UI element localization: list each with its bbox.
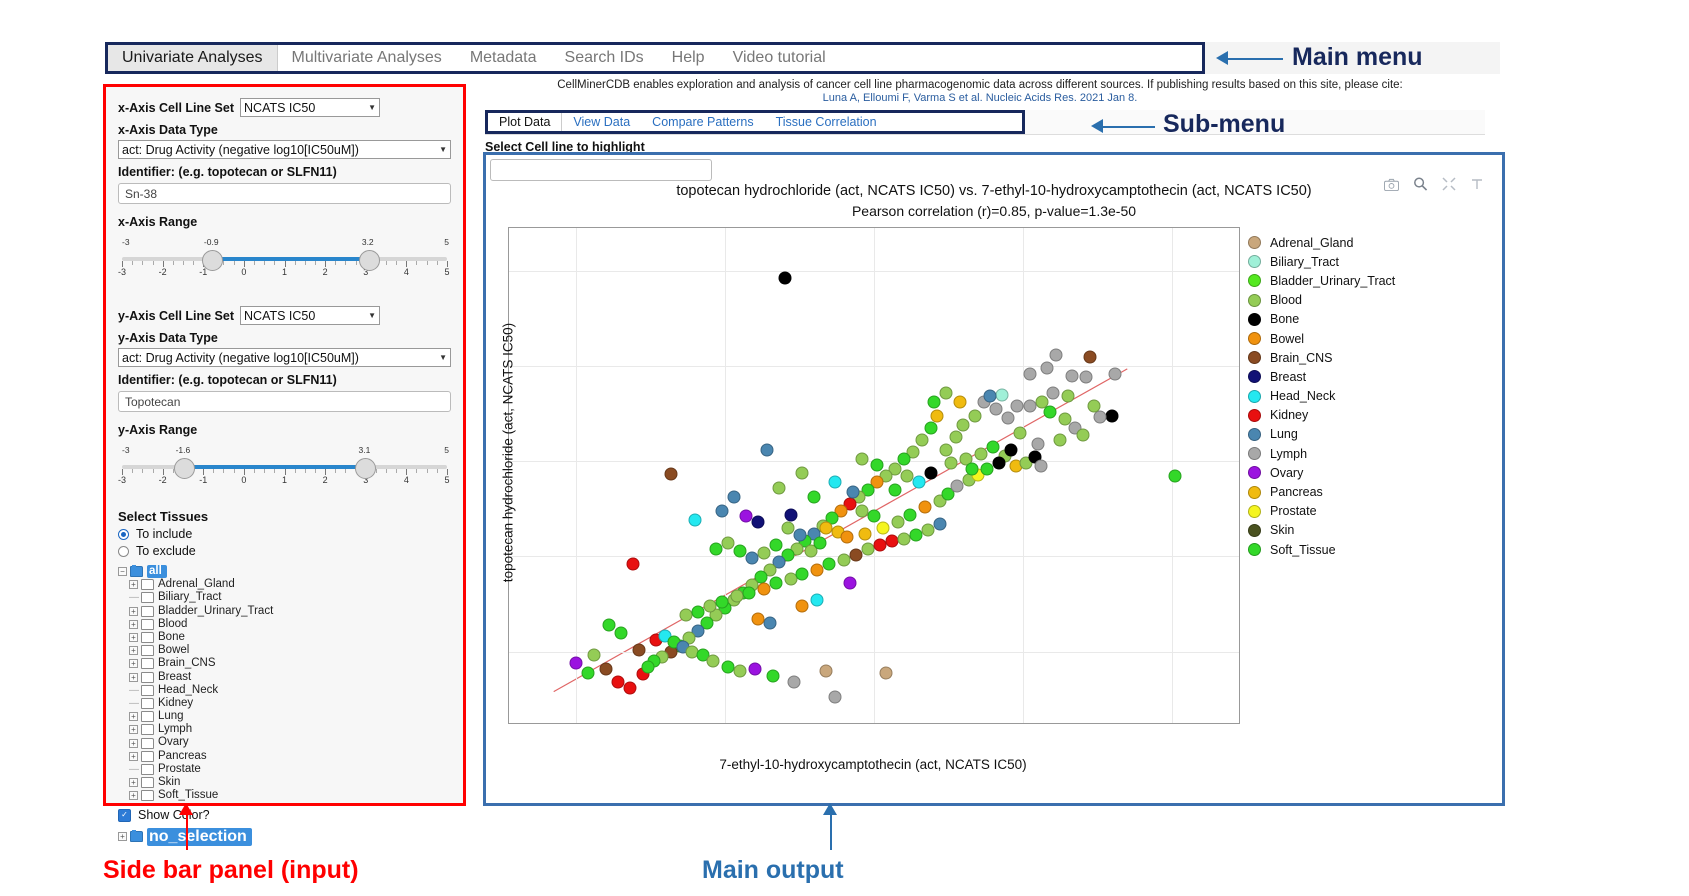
expand-icon[interactable]: + — [129, 752, 138, 761]
legend-label: Skin — [1270, 523, 1294, 537]
radio-to-exclude[interactable]: To exclude — [118, 544, 451, 558]
scatter-point[interactable] — [623, 681, 636, 694]
scatter-point[interactable] — [707, 655, 720, 668]
expand-icon[interactable]: + — [129, 580, 138, 589]
legend-label: Ovary — [1270, 466, 1303, 480]
scatter-point[interactable] — [814, 537, 827, 550]
legend-item-bladder_urinary_tract[interactable]: Bladder_Urinary_Tract — [1248, 271, 1483, 290]
tree-node-label: Ovary — [158, 736, 189, 749]
scatter-point[interactable] — [614, 626, 627, 639]
legend-label: Breast — [1270, 370, 1306, 384]
gridline-horizontal — [509, 366, 1239, 367]
tree-node-bowel[interactable]: +Bowel — [118, 644, 451, 657]
tree-node-label: Bladder_Urinary_Tract — [158, 605, 273, 618]
legend-color-swatch — [1248, 294, 1261, 307]
scatter-point[interactable] — [710, 542, 723, 555]
tree-node-adrenal_gland[interactable]: +Adrenal_Gland — [118, 578, 451, 591]
y-axis-cell-line-set-row: y-Axis Cell Line Set NCATS IC50 ▼ — [118, 306, 451, 325]
expand-icon[interactable]: + — [129, 739, 138, 748]
legend-color-swatch — [1248, 332, 1261, 345]
expand-icon[interactable]: + — [129, 607, 138, 616]
subtab-label: Plot Data — [499, 115, 550, 129]
scatter-point[interactable] — [772, 481, 785, 494]
legend-item-prostate[interactable]: Prostate — [1248, 502, 1483, 521]
scatter-point[interactable] — [722, 537, 735, 550]
tree-node-biliary_tract[interactable]: —Biliary_Tract — [118, 591, 451, 604]
scatter-point[interactable] — [748, 662, 761, 675]
scatter-point[interactable] — [829, 476, 842, 489]
scatter-point[interactable] — [1054, 434, 1067, 447]
tree-node-bladder_urinary_tract[interactable]: +Bladder_Urinary_Tract — [118, 605, 451, 618]
x-axis-identifier-input[interactable]: Sn-38 — [118, 183, 451, 204]
scatter-point[interactable] — [924, 466, 937, 479]
chevron-down-icon: ▼ — [439, 145, 447, 154]
legend-color-swatch — [1248, 313, 1261, 326]
tree-node-label: Bone — [158, 631, 185, 644]
scatter-point[interactable] — [766, 670, 779, 683]
legend-color-swatch — [1248, 390, 1261, 403]
scatter-point[interactable] — [632, 643, 645, 656]
tab-multivariate-analyses[interactable]: Multivariate Analyses — [278, 45, 456, 71]
scatter-point[interactable] — [769, 538, 782, 551]
x-axis-data-type-select[interactable]: act: Drug Activity (negative log10[IC50u… — [118, 140, 451, 159]
tree-node-label: Kidney — [158, 697, 193, 710]
chevron-down-icon: ▼ — [439, 353, 447, 362]
legend-label: Prostate — [1270, 504, 1317, 518]
folder-icon — [141, 738, 154, 749]
scatter-point[interactable] — [796, 599, 809, 612]
site-citation[interactable]: Luna A, Elloumi F, Varma S et al. Nuclei… — [470, 92, 1490, 104]
tree-node-pancreas[interactable]: +Pancreas — [118, 750, 451, 763]
legend-item-skin[interactable]: Skin — [1248, 521, 1483, 540]
folder-icon — [141, 619, 154, 630]
gridline-vertical — [725, 228, 726, 723]
radio-include-icon — [118, 529, 129, 540]
legend-item-breast[interactable]: Breast — [1248, 367, 1483, 386]
legend-color-swatch — [1248, 409, 1261, 422]
sidebar-panel: x-Axis Cell Line Set NCATS IC50 ▼ x-Axis… — [103, 84, 466, 806]
scatter-point[interactable] — [1011, 400, 1024, 413]
tree-node-label: Pancreas — [158, 750, 207, 763]
scatter-point[interactable] — [1079, 371, 1092, 384]
folder-icon — [141, 632, 154, 643]
scatter-point[interactable] — [1040, 361, 1053, 374]
scatter-point[interactable] — [1066, 369, 1079, 382]
folder-icon — [141, 698, 154, 709]
scatter-point[interactable] — [957, 419, 970, 432]
scatter-point[interactable] — [1106, 409, 1119, 422]
scatter-point[interactable] — [733, 664, 746, 677]
scatter-point[interactable] — [841, 531, 854, 544]
gridline-horizontal — [509, 556, 1239, 557]
scatter-point[interactable] — [876, 521, 889, 534]
scatter-point[interactable] — [1076, 428, 1089, 441]
main-output-panel: topotecan hydrochloride (act, NCATS IC50… — [483, 152, 1505, 806]
tab-univariate-analyses[interactable]: Univariate Analyses — [108, 45, 278, 71]
subtab-label: View Data — [573, 115, 630, 129]
tree-node-blood[interactable]: +Blood — [118, 618, 451, 631]
scatter-point[interactable] — [885, 535, 898, 548]
subtab-view-data[interactable]: View Data — [562, 113, 641, 131]
chevron-down-icon: ▼ — [368, 311, 376, 320]
tree-node-prostate[interactable]: —Prostate — [118, 763, 451, 776]
show-color-checkbox-row[interactable]: ✓ Show Color? — [118, 808, 451, 822]
expand-icon[interactable]: + — [129, 778, 138, 787]
scatter-point[interactable] — [996, 388, 1009, 401]
scatter-point[interactable] — [793, 529, 806, 542]
scatter-point[interactable] — [733, 544, 746, 557]
y-range-max-end: 5 — [444, 445, 449, 455]
select-tissues-section: Select Tissues To include To exclude — [118, 509, 451, 558]
y-axis-identifier-input[interactable]: Topotecan — [118, 391, 451, 412]
x-slider-numbers: -3 -2 -1 0 1 2 3 4 5 — [122, 267, 447, 279]
legend-label: Adrenal_Gland — [1270, 236, 1353, 250]
scatter-point[interactable] — [993, 457, 1006, 470]
x-range-max-end: 5 — [444, 237, 449, 247]
leaf-icon: — — [129, 684, 138, 697]
folder-icon — [141, 751, 154, 762]
submenu-callout-line — [1100, 126, 1155, 128]
scatter-point[interactable] — [927, 396, 940, 409]
tree-node-no-selection[interactable]: + no_selection — [118, 830, 451, 843]
scatter-point[interactable] — [1046, 386, 1059, 399]
tab-metadata[interactable]: Metadata — [456, 45, 551, 71]
x-axis-cell-line-set-select[interactable]: NCATS IC50 ▼ — [240, 98, 380, 117]
scatter-point[interactable] — [1109, 367, 1122, 380]
scatter-point[interactable] — [727, 491, 740, 504]
tree-node-label: Lung — [158, 710, 184, 723]
legend-label: Pancreas — [1270, 485, 1323, 499]
scatter-point[interactable] — [918, 500, 931, 513]
legend-color-swatch — [1248, 351, 1261, 364]
scatter-point[interactable] — [641, 660, 654, 673]
chart-title: topotecan hydrochloride (act, NCATS IC50… — [486, 183, 1502, 199]
tree-children: +Adrenal_Gland—Biliary_Tract+Bladder_Uri… — [118, 578, 451, 802]
y-range-high-value: 3.1 — [358, 445, 370, 455]
tab-label: Metadata — [470, 49, 537, 67]
scatter-point[interactable] — [903, 508, 916, 521]
expand-icon[interactable]: + — [129, 673, 138, 682]
y-axis-identifier-value: Topotecan — [125, 395, 180, 409]
x-tick-mark — [874, 723, 875, 724]
y-axis-range-slider[interactable]: -3 5 -3 -2 -1 0 1 2 3 4 5 -1.6 3.1 — [118, 441, 451, 491]
expand-icon[interactable]: + — [129, 791, 138, 800]
x-range-high-value: 3.2 — [362, 237, 374, 247]
scatter-point[interactable] — [966, 462, 979, 475]
tab-label: Search IDs — [565, 49, 644, 67]
scatter-point[interactable] — [1014, 426, 1027, 439]
scatter-point[interactable] — [811, 594, 824, 607]
folder-icon — [141, 724, 154, 735]
scatter-point[interactable] — [1005, 443, 1018, 456]
folder-icon — [141, 592, 154, 603]
scatter-point[interactable] — [751, 516, 764, 529]
scatter-point[interactable] — [784, 508, 797, 521]
tab-search-ids[interactable]: Search IDs — [551, 45, 658, 71]
gridline-vertical — [576, 228, 577, 723]
tab-label: Video tutorial — [733, 49, 826, 67]
tree-node-breast[interactable]: +Breast — [118, 671, 451, 684]
tree-node-head_neck[interactable]: —Head_Neck — [118, 684, 451, 697]
tab-label: Univariate Analyses — [122, 49, 263, 67]
legend-label: Soft_Tissue — [1270, 543, 1336, 557]
y-range-min-end: -3 — [122, 445, 130, 455]
scatter-point[interactable] — [930, 409, 943, 422]
radio-to-include[interactable]: To include — [118, 527, 451, 541]
scatter-point[interactable] — [599, 662, 612, 675]
scatter-point[interactable] — [1024, 367, 1037, 380]
plot-area[interactable]: -10123-10123 — [508, 227, 1240, 724]
main-menu[interactable]: Univariate Analyses Multivariate Analyse… — [105, 42, 1205, 74]
legend-label: Bone — [1270, 312, 1299, 326]
folder-icon — [141, 579, 154, 590]
y-axis-cell-line-set-value: NCATS IC50 — [244, 309, 315, 323]
gridline-horizontal — [509, 271, 1239, 272]
scatter-point[interactable] — [969, 409, 982, 422]
scatter-point[interactable] — [760, 443, 773, 456]
tab-help[interactable]: Help — [658, 45, 719, 71]
leaf-icon: — — [129, 763, 138, 776]
y-axis-cell-line-set-select[interactable]: NCATS IC50 ▼ — [240, 306, 380, 325]
legend-color-swatch — [1248, 447, 1261, 460]
scatter-point[interactable] — [1094, 411, 1107, 424]
folder-icon — [141, 764, 154, 775]
folder-icon — [141, 777, 154, 788]
scatter-point[interactable] — [1034, 459, 1047, 472]
scatter-point[interactable] — [626, 558, 639, 571]
legend-item-kidney[interactable]: Kidney — [1248, 406, 1483, 425]
highlight-cell-line-input[interactable] — [490, 159, 712, 181]
collapse-icon[interactable]: − — [118, 567, 127, 576]
expand-icon[interactable]: + — [129, 725, 138, 734]
scatter-point[interactable] — [949, 431, 962, 444]
y-axis-data-type-label: y-Axis Data Type — [118, 331, 451, 345]
scatter-point[interactable] — [665, 467, 678, 480]
scatter-point[interactable] — [990, 402, 1003, 415]
legend-label: Blood — [1270, 293, 1302, 307]
subtab-compare-patterns[interactable]: Compare Patterns — [641, 113, 764, 131]
scatter-point[interactable] — [939, 443, 952, 456]
expand-icon[interactable]: + — [129, 620, 138, 629]
tree-node-label: no_selection — [147, 828, 252, 846]
scatter-point[interactable] — [602, 618, 615, 631]
select-tissues-title: Select Tissues — [118, 509, 451, 524]
tree-node-label: Biliary_Tract — [158, 591, 221, 604]
sidebar-callout-line — [186, 812, 188, 850]
legend-item-head_neck[interactable]: Head_Neck — [1248, 387, 1483, 406]
expand-icon[interactable]: + — [129, 633, 138, 642]
tree-node-label: Head_Neck — [158, 684, 218, 697]
x-slider-handle-high[interactable] — [359, 250, 380, 271]
legend-item-bone[interactable]: Bone — [1248, 310, 1483, 329]
x-axis-range-slider[interactable]: -3 5 -3 -2 -1 0 1 2 3 4 5 -0.9 3.2 — [118, 233, 451, 283]
tree-node-label: Bowel — [158, 644, 189, 657]
tree-node-kidney[interactable]: —Kidney — [118, 697, 451, 710]
legend-label: Bowel — [1270, 332, 1304, 346]
scatter-point[interactable] — [912, 476, 925, 489]
scatter-point[interactable] — [924, 421, 937, 434]
legend-item-brain_cns[interactable]: Brain_CNS — [1248, 348, 1483, 367]
scatter-point[interactable] — [954, 396, 967, 409]
scatter-point[interactable] — [796, 567, 809, 580]
scatter-point[interactable] — [1002, 412, 1015, 425]
scatter-point[interactable] — [933, 518, 946, 531]
scatter-point[interactable] — [689, 514, 702, 527]
scatter-point[interactable] — [975, 447, 988, 460]
scatter-point[interactable] — [859, 527, 872, 540]
main-menu-callout-arrowhead — [1216, 51, 1228, 65]
legend-color-swatch — [1248, 505, 1261, 518]
y-axis-data-type-value: act: Drug Activity (negative log10[IC50u… — [122, 351, 359, 365]
scatter-point[interactable] — [915, 434, 928, 447]
scatter-point[interactable] — [1024, 400, 1037, 413]
sidebar-callout-arrowhead — [179, 803, 193, 815]
legend-color-swatch — [1248, 274, 1261, 287]
sub-menu[interactable]: Plot Data View Data Compare Patterns Tis… — [485, 110, 1025, 134]
scatter-point[interactable] — [778, 271, 791, 284]
scatter-point[interactable] — [1049, 348, 1062, 361]
scatter-point[interactable] — [900, 470, 913, 483]
legend-item-blood[interactable]: Blood — [1248, 291, 1483, 310]
subtab-tissue-correlation[interactable]: Tissue Correlation — [765, 113, 888, 131]
folder-icon — [141, 685, 154, 696]
x-axis-range-label: x-Axis Range — [118, 215, 451, 229]
scatter-point[interactable] — [1061, 390, 1074, 403]
tree-node-label: Lymph — [158, 723, 192, 736]
scatter-point[interactable] — [870, 459, 883, 472]
legend-item-biliary_tract[interactable]: Biliary_Tract — [1248, 252, 1483, 271]
legend-label: Head_Neck — [1270, 389, 1335, 403]
scatter-point[interactable] — [891, 516, 904, 529]
scatter-point[interactable] — [581, 666, 594, 679]
legend-item-soft_tissue[interactable]: Soft_Tissue — [1248, 540, 1483, 559]
tree-node-soft_tissue[interactable]: +Soft_Tissue — [118, 789, 451, 802]
scatter-point[interactable] — [987, 440, 1000, 453]
scatter-point[interactable] — [984, 390, 997, 403]
scatter-point[interactable] — [939, 386, 952, 399]
scatter-point[interactable] — [1043, 405, 1056, 418]
scatter-point[interactable] — [888, 483, 901, 496]
legend-label: Kidney — [1270, 408, 1308, 422]
legend-label: Lymph — [1270, 447, 1307, 461]
tab-video-tutorial[interactable]: Video tutorial — [719, 45, 840, 71]
scatter-point[interactable] — [1088, 400, 1101, 413]
tree-node-ovary[interactable]: +Ovary — [118, 736, 451, 749]
scatter-point[interactable] — [787, 676, 800, 689]
folder-icon — [141, 645, 154, 656]
scatter-point[interactable] — [763, 617, 776, 630]
scatter-point[interactable] — [587, 649, 600, 662]
tree-node-label: Skin — [158, 776, 180, 789]
legend-item-adrenal_gland[interactable]: Adrenal_Gland — [1248, 233, 1483, 252]
legend-color-swatch — [1248, 236, 1261, 249]
chart-legend: Adrenal_GlandBiliary_TractBladder_Urinar… — [1248, 233, 1483, 559]
scatter-point[interactable] — [570, 657, 583, 670]
legend-item-pancreas[interactable]: Pancreas — [1248, 482, 1483, 501]
scatter-point[interactable] — [945, 457, 958, 470]
scatter-point[interactable] — [1031, 438, 1044, 451]
checkbox-checked-icon[interactable]: ✓ — [118, 809, 131, 822]
x-axis-data-type-value: act: Drug Activity (negative log10[IC50u… — [122, 143, 359, 157]
tree-node-lymph[interactable]: +Lymph — [118, 723, 451, 736]
tree-node-label: Brain_CNS — [158, 657, 216, 670]
main-menu-callout-line — [1225, 58, 1283, 60]
scatter-point[interactable] — [844, 577, 857, 590]
y-axis-identifier-label: Identifier: (e.g. topotecan or SLFN11) — [118, 373, 451, 387]
tree-node-lung[interactable]: +Lung — [118, 710, 451, 723]
legend-label: Bladder_Urinary_Tract — [1270, 274, 1395, 288]
scatter-point[interactable] — [829, 691, 842, 704]
scatter-point[interactable] — [796, 466, 809, 479]
expand-icon[interactable]: + — [129, 646, 138, 655]
scatter-point[interactable] — [757, 546, 770, 559]
scatter-point[interactable] — [781, 521, 794, 534]
legend-item-ovary[interactable]: Ovary — [1248, 463, 1483, 482]
expand-icon[interactable]: + — [129, 712, 138, 721]
scatter-point[interactable] — [1168, 470, 1181, 483]
radio-exclude-label: To exclude — [136, 544, 196, 558]
y-axis-data-type-select[interactable]: act: Drug Activity (negative log10[IC50u… — [118, 348, 451, 367]
expand-icon[interactable]: + — [129, 659, 138, 668]
tree-node-bone[interactable]: +Bone — [118, 631, 451, 644]
tree-node-brain_cns[interactable]: +Brain_CNS — [118, 657, 451, 670]
scatter-point[interactable] — [716, 596, 729, 609]
callout-sub-menu: Sub-menu — [1163, 110, 1285, 139]
subtab-plot-data[interactable]: Plot Data — [488, 113, 562, 131]
x-tick-mark — [1172, 723, 1173, 724]
scatter-point[interactable] — [847, 485, 860, 498]
scatter-point[interactable] — [879, 666, 892, 679]
subtab-label: Compare Patterns — [652, 115, 753, 129]
scatter-point[interactable] — [742, 586, 755, 599]
legend-item-lung[interactable]: Lung — [1248, 425, 1483, 444]
scatter-point[interactable] — [823, 558, 836, 571]
scatter-point[interactable] — [1084, 350, 1097, 363]
scatter-point[interactable] — [856, 453, 869, 466]
folder-icon — [141, 790, 154, 801]
scatter-point[interactable] — [820, 664, 833, 677]
scatter-point[interactable] — [868, 510, 881, 523]
scatter-point[interactable] — [769, 577, 782, 590]
main-output-callout-arrowhead — [823, 803, 837, 815]
expand-icon[interactable]: + — [118, 832, 127, 841]
scatter-point[interactable] — [716, 504, 729, 517]
legend-item-lymph[interactable]: Lymph — [1248, 444, 1483, 463]
x-tick-mark — [576, 723, 577, 724]
legend-item-bowel[interactable]: Bowel — [1248, 329, 1483, 348]
legend-color-swatch — [1248, 255, 1261, 268]
tree-node-skin[interactable]: +Skin — [118, 776, 451, 789]
y-slider-handle-low[interactable] — [174, 458, 195, 479]
tissue-tree[interactable]: − all +Adrenal_Gland—Biliary_Tract+Bladd… — [118, 565, 451, 802]
x-tick-mark — [1023, 723, 1024, 724]
x-axis-identifier-label: Identifier: (e.g. topotecan or SLFN11) — [118, 165, 451, 179]
tab-label: Multivariate Analyses — [292, 49, 442, 67]
y-range-low-value: -1.6 — [176, 445, 191, 455]
x-range-min-end: -3 — [122, 237, 130, 247]
folder-icon — [130, 831, 143, 842]
y-slider-numbers: -3 -2 -1 0 1 2 3 4 5 — [122, 475, 447, 487]
tab-label: Help — [672, 49, 705, 67]
scatter-point[interactable] — [745, 552, 758, 565]
legend-color-swatch — [1248, 486, 1261, 499]
scatter-point[interactable] — [751, 613, 764, 626]
tree-node-all[interactable]: − all — [118, 565, 451, 578]
x-axis-label: 7-ethyl-10-hydroxycamptothecin (act, NCA… — [508, 757, 1238, 772]
y-axis-range-label: y-Axis Range — [118, 423, 451, 437]
scatter-point[interactable] — [808, 491, 821, 504]
tree-node-label: all — [147, 565, 167, 578]
